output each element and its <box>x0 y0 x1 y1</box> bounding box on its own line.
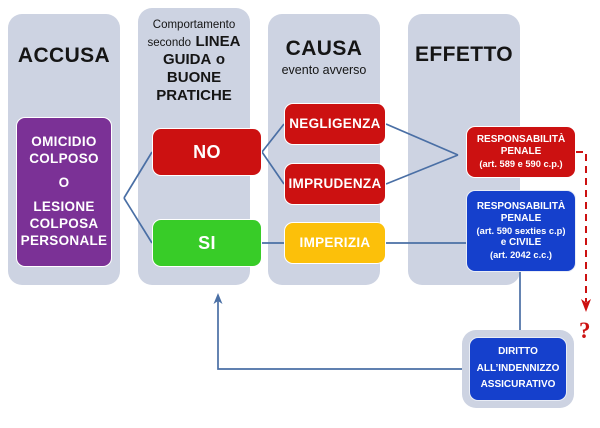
node-omicidio-line-6: PERSONALE <box>20 233 108 250</box>
node-imperizia-label: IMPERIZIA <box>288 235 382 252</box>
node-responsabilita-penale-civile-line-1: RESPONSABILITÀ <box>470 201 572 214</box>
node-responsabilita-penale-civile-line-5: (art. 2042 c.c.) <box>470 250 572 262</box>
node-negligenza-label: NEGLIGENZA <box>288 116 382 133</box>
node-responsabilita-penale-civile-line-2: PENALE <box>470 213 572 226</box>
diagram-canvas: ACCUSA Comportamento secondo LINEA GUIDA… <box>0 0 600 428</box>
panel-causa-header: CAUSA evento avverso <box>268 37 380 78</box>
node-responsabilita-penale-line-3: (art. 589 e 590 c.p.) <box>470 159 572 171</box>
panel-linea-guida-subtitle-1: Comportamento <box>153 19 235 31</box>
question-mark-annotation: ? <box>579 318 591 344</box>
node-negligenza[interactable]: NEGLIGENZA <box>284 103 386 145</box>
node-responsabilita-penale-civile[interactable]: RESPONSABILITÀ PENALE (art. 590 sexties … <box>466 190 576 272</box>
node-omicidio-line-2: COLPOSO <box>20 151 108 168</box>
node-si[interactable]: SI <box>152 219 262 267</box>
node-omicidio-line-4: LESIONE <box>20 199 108 216</box>
node-imperizia[interactable]: IMPERIZIA <box>284 222 386 264</box>
arrowhead-dashed-down <box>581 299 591 312</box>
node-omicidio-colposo[interactable]: OMICIDIO COLPOSO O LESIONE COLPOSA PERSO… <box>16 117 112 267</box>
node-responsabilita-penale-civile-line-3: (art. 590 sexties c.p) <box>470 226 572 238</box>
panel-linea-guida-subtitle-2: secondo <box>148 37 191 49</box>
node-responsabilita-penale-line-1: RESPONSABILITÀ <box>470 134 572 147</box>
node-omicidio-spacer <box>20 168 108 175</box>
node-diritto-line-3: ASSICURATIVO <box>473 379 563 392</box>
node-omicidio-spacer-2 <box>20 192 108 199</box>
node-diritto-line-1: DIRITTO <box>473 346 563 359</box>
panel-effetto-header: EFFETTO <box>408 43 520 67</box>
node-no[interactable]: NO <box>152 128 262 176</box>
node-responsabilita-penale[interactable]: RESPONSABILITÀ PENALE (art. 589 e 590 c.… <box>466 126 576 178</box>
node-si-label: SI <box>156 232 258 255</box>
node-responsabilita-penale-line-2: PENALE <box>470 146 572 159</box>
panel-causa-title: CAUSA <box>286 37 363 60</box>
node-diritto-text: DIRITTO ALL’INDENNIZZO ASSICURATIVO <box>473 346 563 392</box>
connector-resp-penale-dashed <box>576 152 586 302</box>
panel-accusa-header: ACCUSA <box>8 44 120 68</box>
node-imprudenza-label: IMPRUDENZA <box>288 176 382 193</box>
node-no-label: NO <box>156 141 258 164</box>
panel-effetto-title: EFFETTO <box>415 43 513 66</box>
node-responsabilita-penale-civile-text: RESPONSABILITÀ PENALE (art. 590 sexties … <box>470 201 572 262</box>
connector-diritto-feedback <box>218 300 462 369</box>
node-responsabilita-penale-civile-line-4: e CIVILE <box>470 237 572 250</box>
node-omicidio-line-1: OMICIDIO <box>20 134 108 151</box>
node-omicidio-text: OMICIDIO COLPOSO O LESIONE COLPOSA PERSO… <box>20 134 108 249</box>
panel-accusa-title: ACCUSA <box>18 44 110 67</box>
node-diritto-indennizzo[interactable]: DIRITTO ALL’INDENNIZZO ASSICURATIVO <box>469 337 567 401</box>
arrowhead-feedback-up <box>214 293 223 304</box>
panel-linea-guida-header: Comportamento secondo LINEA GUIDA o BUON… <box>138 15 250 105</box>
node-diritto-line-2: ALL’INDENNIZZO <box>473 363 563 376</box>
node-omicidio-line-3: O <box>20 175 108 192</box>
node-omicidio-line-5: COLPOSA <box>20 216 108 233</box>
node-imprudenza[interactable]: IMPRUDENZA <box>284 163 386 205</box>
node-responsabilita-penale-text: RESPONSABILITÀ PENALE (art. 589 e 590 c.… <box>470 134 572 171</box>
panel-linea-guida-title-3: PRATICHE <box>156 87 232 104</box>
panel-causa-subtitle: evento avverso <box>282 63 367 77</box>
